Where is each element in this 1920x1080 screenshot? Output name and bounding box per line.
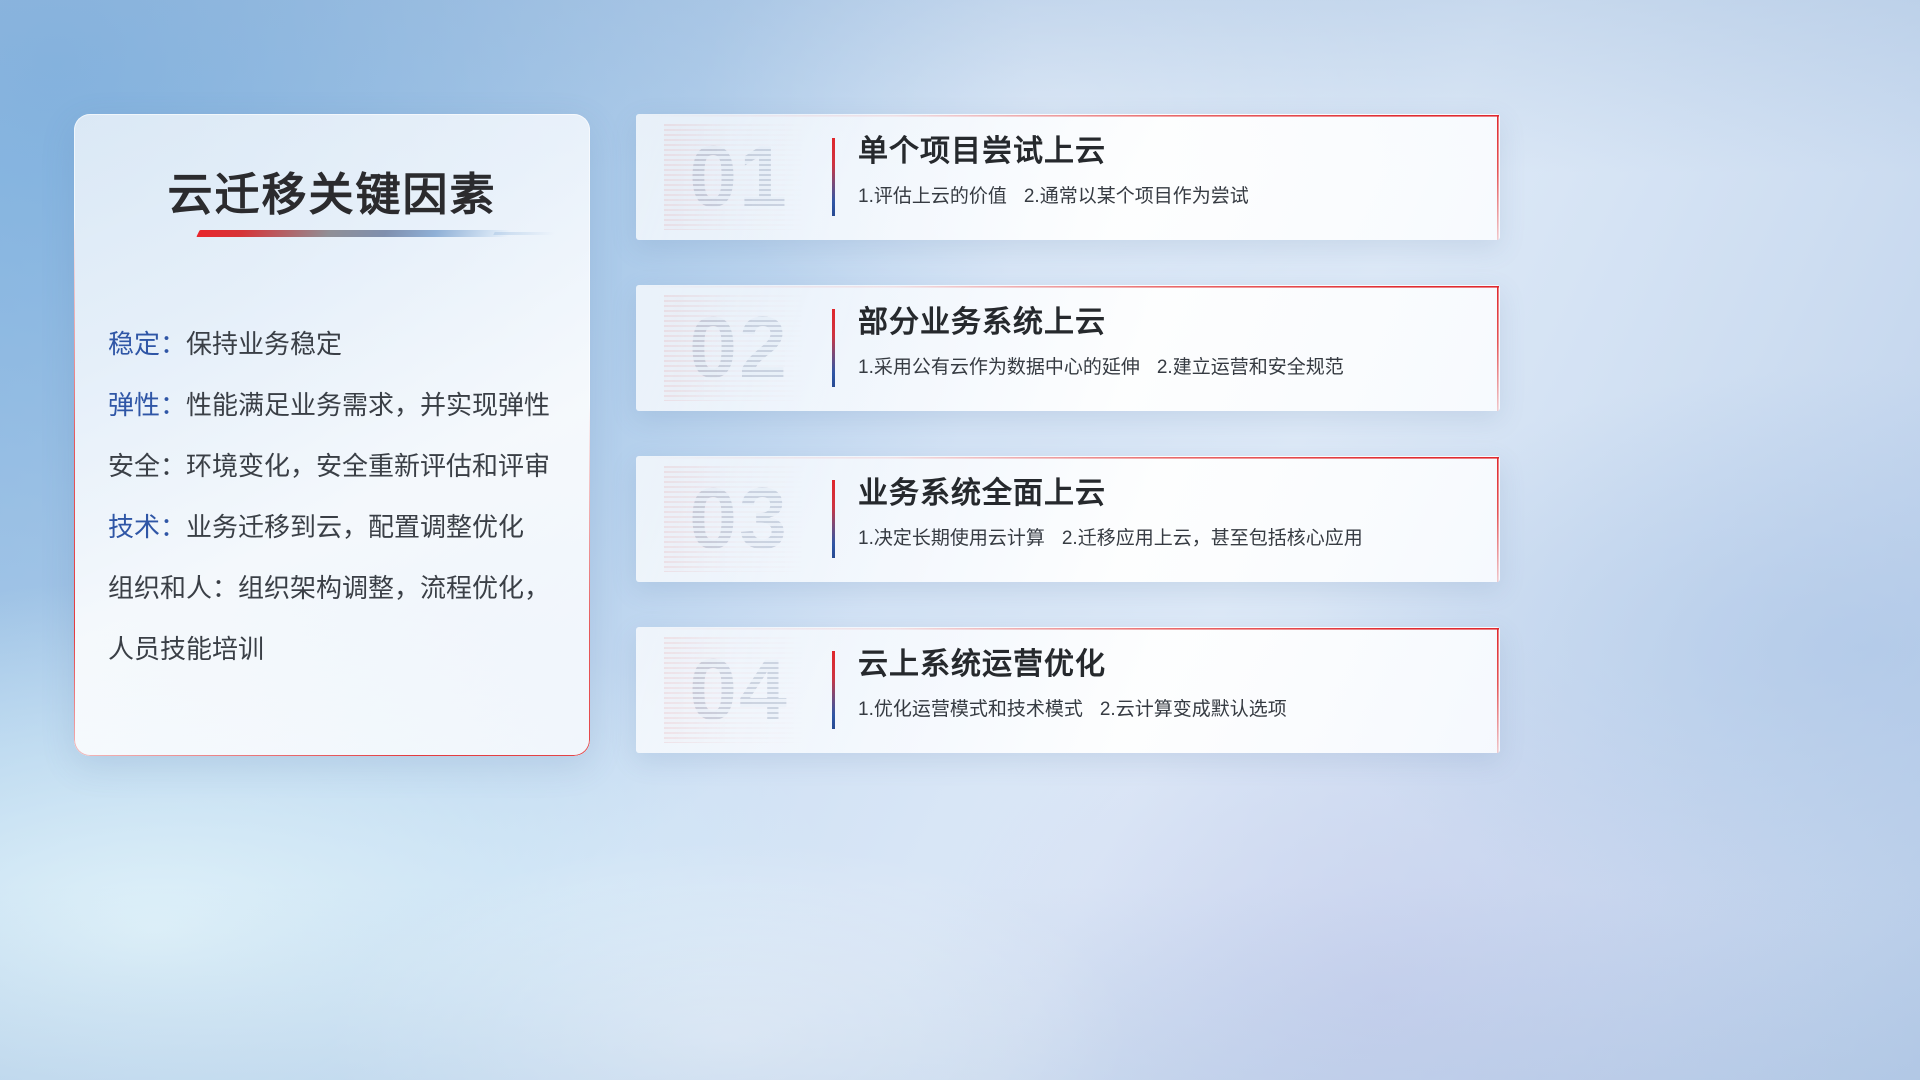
stage-divider-bar xyxy=(832,309,835,387)
list-item: 人员技能培训 xyxy=(108,619,572,680)
stage-divider-bar xyxy=(832,480,835,558)
stage-number: 04 xyxy=(664,637,814,743)
list-item-label: 弹性： xyxy=(108,390,186,420)
stage-card[interactable]: 03 业务系统全面上云 1.决定长期使用云计算2.迁移应用上云，甚至包括核心应用 xyxy=(636,456,1500,582)
stage-point-1: 1.决定长期使用云计算 xyxy=(858,528,1045,549)
stage-point-2: 2.通常以某个项目作为尝试 xyxy=(1024,186,1249,207)
stage-point-2: 2.迁移应用上云，甚至包括核心应用 xyxy=(1062,528,1363,549)
stage-divider-bar xyxy=(832,651,835,729)
stage-points: 1.评估上云的价值2.通常以某个项目作为尝试 xyxy=(858,183,1480,210)
list-item: 组织和人：组织架构调整，流程优化， xyxy=(108,558,572,619)
stage-points: 1.优化运营模式和技术模式2.云计算变成默认选项 xyxy=(858,696,1480,723)
stage-number: 02 xyxy=(664,295,814,401)
stage-text-block: 云上系统运营优化 1.优化运营模式和技术模式2.云计算变成默认选项 xyxy=(858,643,1480,723)
list-item: 安全：环境变化，安全重新评估和评审 xyxy=(108,436,572,497)
stage-point-2: 2.云计算变成默认选项 xyxy=(1100,699,1287,720)
stage-text-block: 业务系统全面上云 1.决定长期使用云计算2.迁移应用上云，甚至包括核心应用 xyxy=(858,472,1480,552)
stage-point-1: 1.评估上云的价值 xyxy=(858,186,1007,207)
list-item-text: 业务迁移到云，配置调整优化 xyxy=(186,512,524,542)
stage-points: 1.采用公有云作为数据中心的延伸2.建立运营和安全规范 xyxy=(858,354,1480,381)
panel-title-underline-tail xyxy=(493,232,554,235)
stage-title: 单个项目尝试上云 xyxy=(858,130,1480,174)
list-item-label: 安全： xyxy=(108,451,186,481)
list-item-label: 稳定： xyxy=(108,329,186,359)
stage-text-block: 部分业务系统上云 1.采用公有云作为数据中心的延伸2.建立运营和安全规范 xyxy=(858,301,1480,381)
migration-stage-cards: 01 单个项目尝试上云 1.评估上云的价值2.通常以某个项目作为尝试 02 部分… xyxy=(636,114,1502,798)
stage-text-block: 单个项目尝试上云 1.评估上云的价值2.通常以某个项目作为尝试 xyxy=(858,130,1480,210)
stage-point-1: 1.采用公有云作为数据中心的延伸 xyxy=(858,357,1140,378)
stage-card[interactable]: 01 单个项目尝试上云 1.评估上云的价值2.通常以某个项目作为尝试 xyxy=(636,114,1500,240)
stage-point-2: 2.建立运营和安全规范 xyxy=(1157,357,1344,378)
stage-number: 01 xyxy=(664,124,814,230)
list-item-label: 技术： xyxy=(108,512,186,542)
stage-points: 1.决定长期使用云计算2.迁移应用上云，甚至包括核心应用 xyxy=(858,525,1480,552)
list-item-text: 环境变化，安全重新评估和评审 xyxy=(186,451,550,481)
list-item: 技术：业务迁移到云，配置调整优化 xyxy=(108,497,572,558)
stage-number: 03 xyxy=(664,466,814,572)
list-item-text: 保持业务稳定 xyxy=(186,329,342,359)
panel-title: 云迁移关键因素 xyxy=(74,158,590,223)
panel-title-underline xyxy=(196,230,511,237)
stage-title: 部分业务系统上云 xyxy=(858,301,1480,345)
stage-card[interactable]: 04 云上系统运营优化 1.优化运营模式和技术模式2.云计算变成默认选项 xyxy=(636,627,1500,753)
stage-title: 云上系统运营优化 xyxy=(858,643,1480,687)
list-item: 弹性：性能满足业务需求，并实现弹性 xyxy=(108,375,572,436)
stage-title: 业务系统全面上云 xyxy=(858,472,1480,516)
stage-card[interactable]: 02 部分业务系统上云 1.采用公有云作为数据中心的延伸2.建立运营和安全规范 xyxy=(636,285,1500,411)
key-factors-panel: 云迁移关键因素 稳定：保持业务稳定 弹性：性能满足业务需求，并实现弹性 安全：环… xyxy=(74,114,590,756)
stage-point-1: 1.优化运营模式和技术模式 xyxy=(858,699,1083,720)
list-item-text: 组织架构调整，流程优化， xyxy=(238,573,550,603)
stage-divider-bar xyxy=(832,138,835,216)
key-factors-list: 稳定：保持业务稳定 弹性：性能满足业务需求，并实现弹性 安全：环境变化，安全重新… xyxy=(108,314,572,680)
list-item-text: 性能满足业务需求，并实现弹性 xyxy=(186,390,550,420)
list-item: 稳定：保持业务稳定 xyxy=(108,314,572,375)
list-item-label: 组织和人： xyxy=(108,573,238,603)
list-item-text: 人员技能培训 xyxy=(108,634,264,664)
